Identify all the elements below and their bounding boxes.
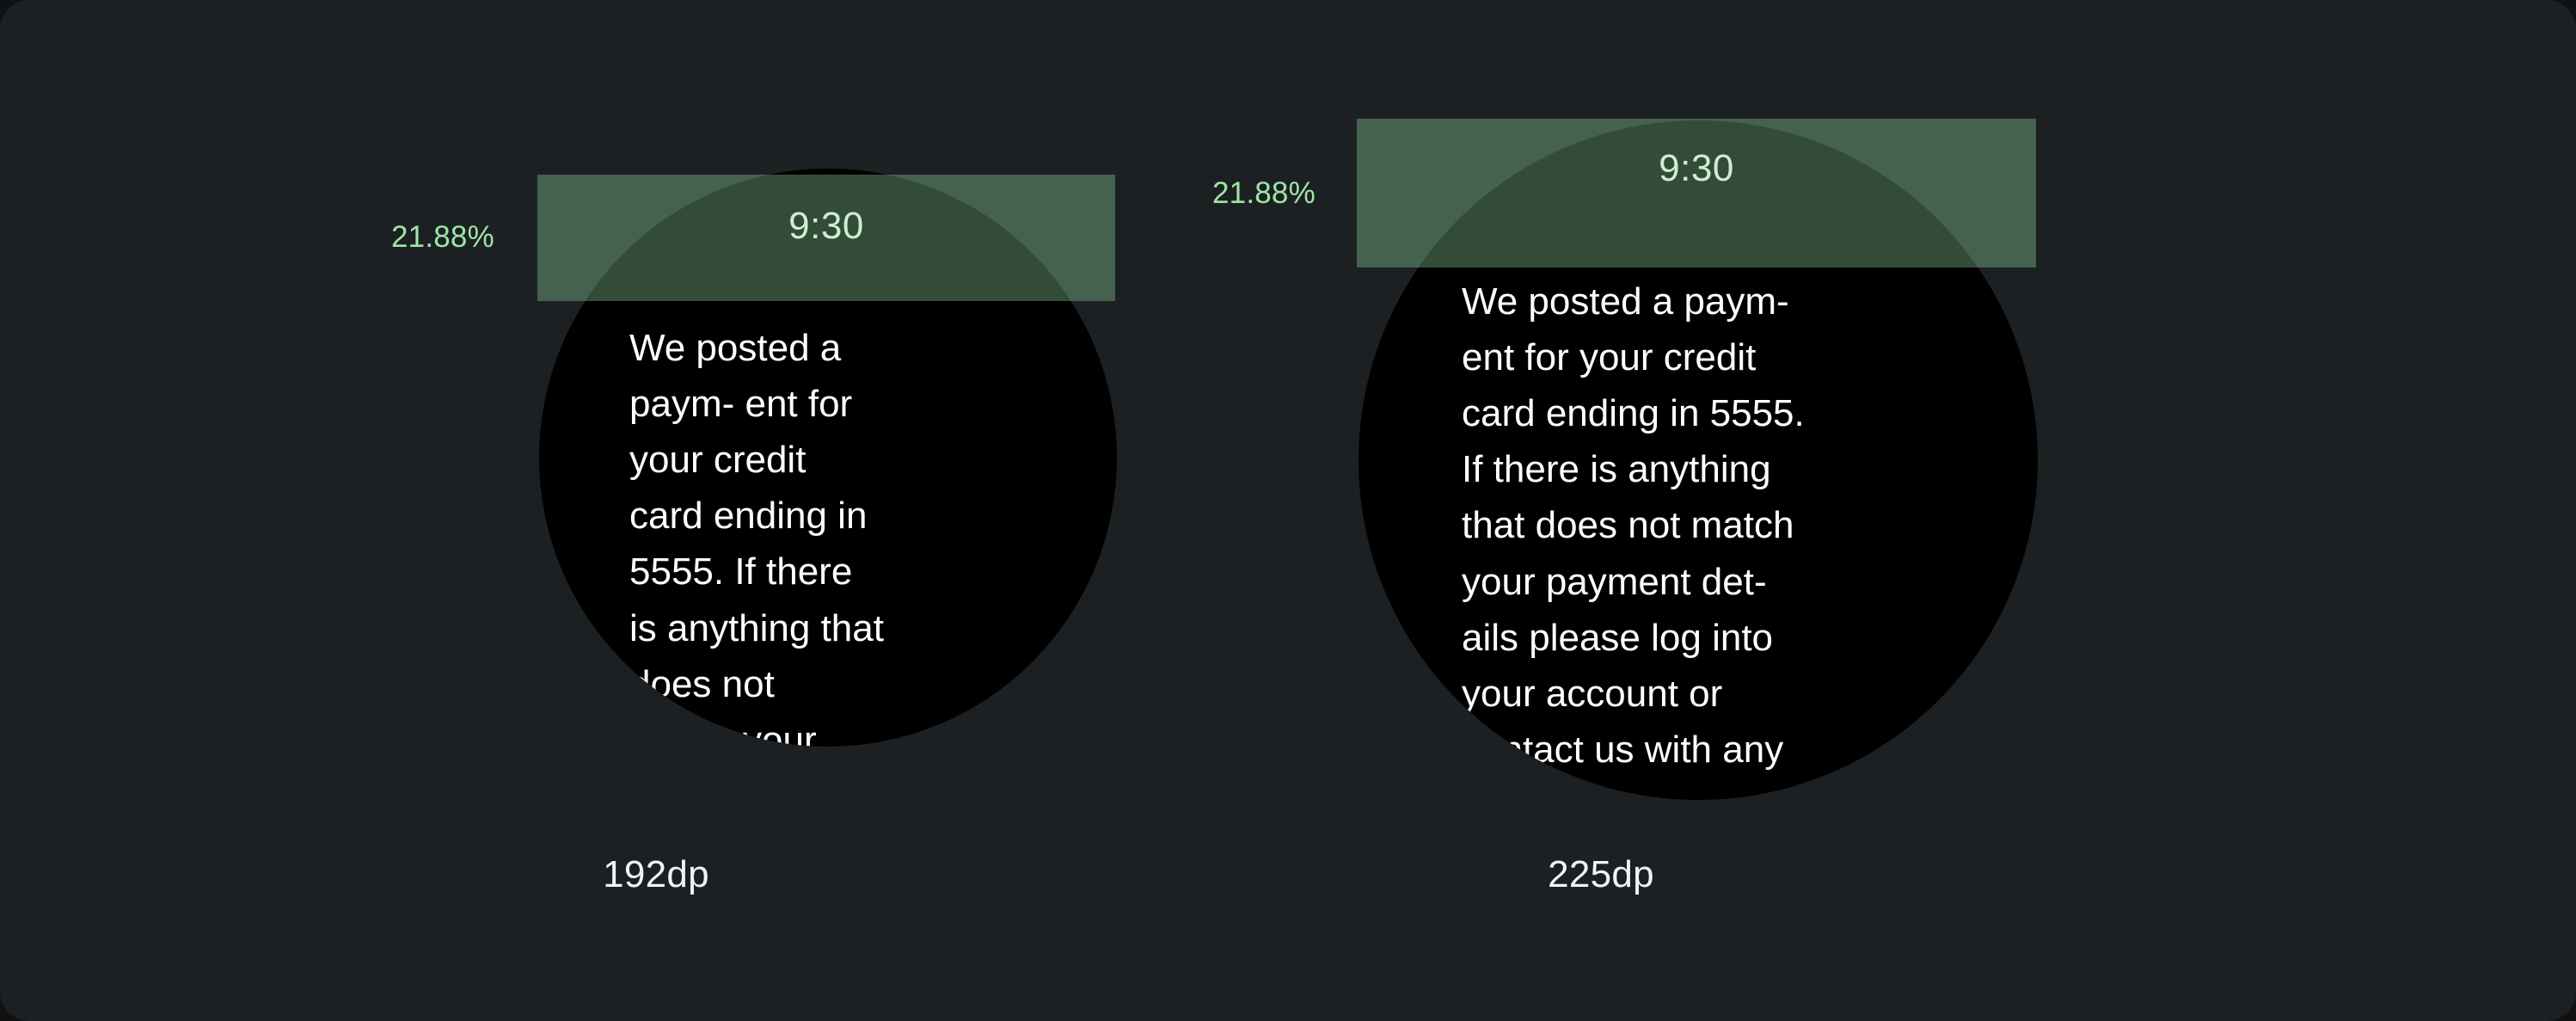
specimen-192dp[interactable]: 21.88% We posted a paym- ent for your cr… <box>327 0 1187 1021</box>
watch-face-192dp: We posted a paym- ent for your credit ca… <box>539 169 1117 747</box>
notification-body-225dp: We posted a paym- ent for your credit ca… <box>1462 274 1806 800</box>
notification-body-192dp: We posted a paym- ent for your credit ca… <box>629 320 887 747</box>
percent-label-225dp: 21.88% <box>1212 178 1316 208</box>
watch-face-225dp: We posted a paym- ent for your credit ca… <box>1359 120 2038 800</box>
size-caption-192dp: 192dp <box>226 856 1086 894</box>
comparison-canvas: 21.88% We posted a paym- ent for your cr… <box>0 0 2576 1021</box>
specimen-225dp[interactable]: 21.88% We posted a paym- ent for your cr… <box>1195 0 2141 1021</box>
percent-label-192dp: 21.88% <box>391 222 494 252</box>
size-caption-225dp: 225dp <box>1128 856 2074 894</box>
specimen-group: 21.88% We posted a paym- ent for your cr… <box>0 0 2576 1021</box>
watch-mock-192dp[interactable]: We posted a paym- ent for your credit ca… <box>539 169 1117 747</box>
watch-mock-225dp[interactable]: We posted a paym- ent for your credit ca… <box>1359 120 2038 800</box>
